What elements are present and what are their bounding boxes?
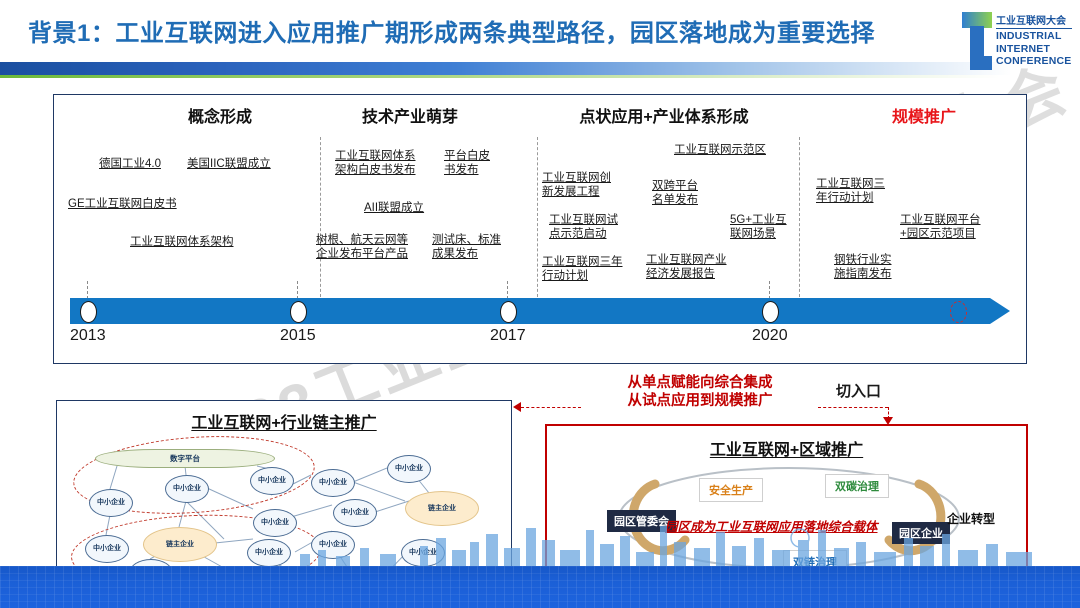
event-item: 工业互联网体系架构 bbox=[130, 235, 234, 249]
slide-root: 背景1：工业互联网进入应用推广期形成两条典型路径，园区落地成为重要选择 工业互联… bbox=[0, 0, 1080, 608]
timeline-node-2013[interactable] bbox=[80, 301, 97, 323]
year-tick bbox=[769, 281, 770, 299]
city-skyline-decoration bbox=[0, 520, 1080, 566]
sme-node: 中小企业 bbox=[89, 489, 133, 517]
event-item: AII联盟成立 bbox=[364, 201, 424, 215]
event-item: 测试床、标准 成果发布 bbox=[432, 233, 501, 261]
sme-node: 中小企业 bbox=[387, 455, 431, 483]
year-tick bbox=[507, 281, 508, 299]
event-item: 工业互联网产业 经济发展报告 bbox=[646, 253, 727, 281]
timeline-axis-bar bbox=[70, 298, 990, 324]
event-item: 工业互联网体系 架构白皮书发布 bbox=[335, 149, 416, 177]
timeline-node-2020[interactable] bbox=[762, 301, 779, 323]
year-label: 2013 bbox=[70, 327, 106, 345]
logo-en-line3: CONFERENCE bbox=[996, 55, 1072, 68]
logo-text: 工业互联网大会 INDUSTRIAL INTERNET CONFERENCE bbox=[996, 12, 1072, 68]
event-item: 工业互联网三年 行动计划 bbox=[542, 255, 623, 283]
event-item: 钢铁行业实 施指南发布 bbox=[834, 253, 892, 281]
year-label: 2015 bbox=[280, 327, 316, 345]
event-item: 德国工业4.0 bbox=[99, 157, 161, 171]
transition-note: 从单点赋能向综合集成 从试点应用到规模推广 bbox=[585, 374, 815, 410]
transition-note-line1: 从单点赋能向综合集成 bbox=[585, 374, 815, 392]
timeline-node-2017[interactable] bbox=[500, 301, 517, 323]
timeline-panel: 概念形成 技术产业萌芽 点状应用+产业体系形成 规模推广 德国工业4.0 美国I… bbox=[53, 94, 1027, 364]
timeline-axis-arrowhead bbox=[990, 298, 1010, 324]
phase-header-2: 技术产业萌芽 bbox=[300, 103, 520, 127]
event-item: 平台白皮 书发布 bbox=[444, 149, 490, 177]
logo-en-line1: INDUSTRIAL bbox=[996, 30, 1072, 43]
event-item: 工业互联网示范区 bbox=[674, 143, 766, 157]
sme-node: 中小企业 bbox=[250, 467, 294, 495]
sme-node: 中小企业 bbox=[165, 475, 209, 503]
sme-node: 中小企业 bbox=[311, 469, 355, 497]
timeline-phase-headers: 概念形成 技术产业萌芽 点状应用+产业体系形成 规模推广 bbox=[54, 103, 1026, 129]
phase-header-4: 规模推广 bbox=[824, 103, 1024, 127]
arrow-to-left-panel bbox=[521, 407, 581, 408]
logo-mark-icon bbox=[962, 12, 992, 70]
arrow-left-head-icon bbox=[513, 402, 521, 412]
phase-divider-3 bbox=[799, 137, 800, 297]
year-tick bbox=[297, 281, 298, 299]
event-item: 双跨平台 名单发布 bbox=[652, 179, 698, 207]
event-item: 工业互联网三 年行动计划 bbox=[816, 177, 885, 205]
event-item: 5G+工业互 联网场景 bbox=[730, 213, 787, 241]
skyline-svg bbox=[0, 520, 1080, 566]
chip-dual-carbon: 双碳治理 bbox=[825, 474, 889, 498]
phase-header-3: 点状应用+产业体系形成 bbox=[514, 103, 814, 127]
chip-safety-production: 安全生产 bbox=[699, 478, 763, 502]
logo-en-line2: INTERNET bbox=[996, 43, 1072, 56]
header-gradient-bar bbox=[0, 62, 1012, 75]
event-item: 工业互联网试 点示范启动 bbox=[549, 213, 618, 241]
arrow-to-right-panel bbox=[818, 407, 888, 408]
phase-divider-2 bbox=[537, 137, 538, 297]
year-label: 2017 bbox=[490, 327, 526, 345]
conference-logo: 工业互联网大会 INDUSTRIAL INTERNET CONFERENCE bbox=[962, 6, 1074, 78]
event-item: GE工业互联网白皮书 bbox=[68, 197, 177, 211]
footer-grid-texture bbox=[0, 566, 1080, 608]
footer-band bbox=[0, 566, 1080, 608]
event-item: 美国IIC联盟成立 bbox=[187, 157, 271, 171]
event-item: 工业互联网平台 +园区示范项目 bbox=[900, 213, 981, 241]
event-item: 工业互联网创 新发展工程 bbox=[542, 171, 611, 199]
page-title: 背景1：工业互联网进入应用推广期形成两条典型路径，园区落地成为重要选择 bbox=[28, 13, 875, 48]
phase-divider-1 bbox=[320, 137, 321, 297]
left-panel-title: 工业互联网+行业链主推广 bbox=[57, 409, 511, 433]
digital-platform-node: 数字平台 bbox=[95, 449, 275, 468]
header-green-underline bbox=[0, 75, 1000, 78]
timeline-node-2015[interactable] bbox=[290, 301, 307, 323]
timeline-node-future[interactable] bbox=[950, 301, 967, 323]
year-label: 2020 bbox=[752, 327, 788, 345]
logo-cn-label: 工业互联网大会 bbox=[996, 12, 1072, 29]
year-tick bbox=[87, 281, 88, 299]
entry-point-label: 切入口 bbox=[836, 380, 881, 401]
transition-note-line2: 从试点应用到规模推广 bbox=[585, 392, 815, 410]
event-item: 树根、航天云网等 企业发布平台产品 bbox=[316, 233, 408, 261]
phase-header-1: 概念形成 bbox=[120, 103, 320, 127]
